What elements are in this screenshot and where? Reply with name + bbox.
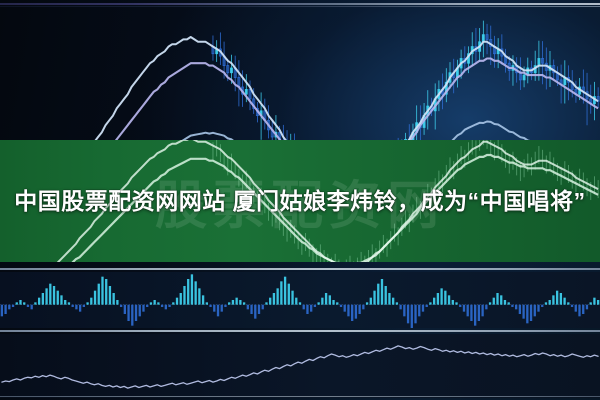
indicator-panel: [0, 334, 600, 398]
headline-banner: 股票配资网 中国股票配资网网站 厦门姑娘李炜铃，成为“中国唱将”: [0, 140, 600, 262]
stock-chart-banner: 股票配资网 中国股票配资网网站 厦门姑娘李炜铃，成为“中国唱将”: [0, 0, 600, 400]
panel-divider-middle: [0, 330, 600, 332]
headline-text: 中国股票配资网网站 厦门姑娘李炜铃，成为“中国唱将”: [0, 182, 600, 220]
panel-divider-bottom: [0, 396, 600, 397]
indicator-line-chart: [0, 334, 600, 398]
panel-divider-top: [0, 268, 600, 270]
macd-histogram-chart: [0, 272, 600, 328]
macd-panel: [0, 272, 600, 328]
banner-inner: 股票配资网 中国股票配资网网站 厦门姑娘李炜铃，成为“中国唱将”: [0, 140, 600, 262]
top-rule-secondary: [0, 6, 600, 7]
top-rule-primary: [0, 3, 600, 5]
